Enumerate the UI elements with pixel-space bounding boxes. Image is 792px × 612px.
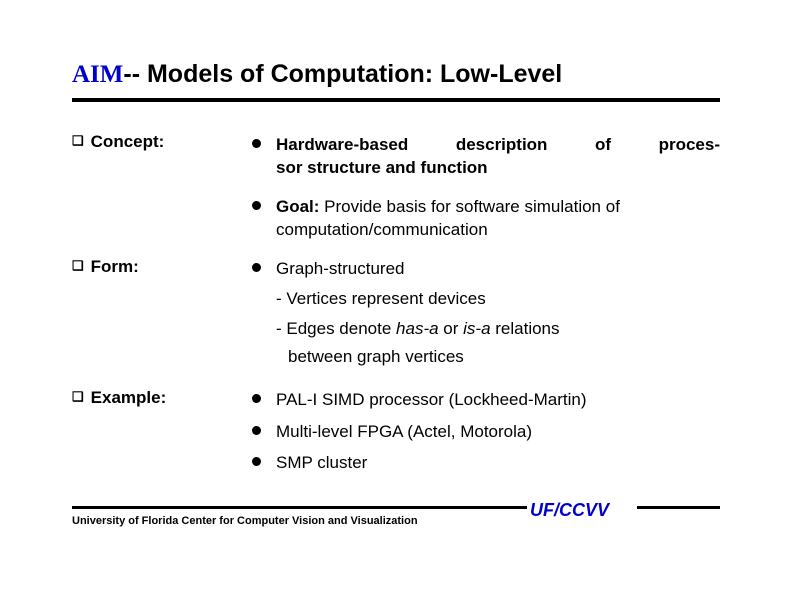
- section-label-concept-text: Concept:: [91, 132, 165, 151]
- bullet-text: PAL-I SIMD processor (Lockheed-Martin): [276, 388, 587, 411]
- bullet-text: Hardware-based description of proces- so…: [276, 133, 720, 179]
- sub-line-edges-pre: - Edges denote: [276, 319, 396, 338]
- bullet-text: Multi-level FPGA (Actel, Motorola): [276, 420, 532, 443]
- bullet-dot-icon: [252, 139, 261, 148]
- footer-affiliation: University of Florida Center for Compute…: [72, 515, 418, 527]
- bullet-line-2: sor structure and function: [276, 158, 488, 177]
- bullet-dot-icon: [252, 426, 261, 435]
- slide: AIM-- Models of Computation: Low-Level ❑…: [0, 0, 792, 612]
- sub-line-vertices: - Vertices represent devices: [276, 287, 486, 310]
- bullet-line-2: computation/communication: [276, 218, 746, 241]
- sub-line-between: between graph vertices: [288, 345, 464, 368]
- bullet-text: Graph-structured: [276, 257, 405, 280]
- sub-line-edges-italic-is-a: is-a: [463, 319, 490, 338]
- bullet-line-1: Hardware-based description of proces-: [276, 133, 720, 156]
- checkbox-square-icon: ❑: [72, 389, 84, 404]
- section-label-example-text: Example:: [91, 388, 167, 407]
- bullet-dot-icon: [252, 201, 261, 210]
- section-label-form: ❑Form:: [72, 257, 139, 277]
- sub-line-edges-italic-has-a: has-a: [396, 319, 439, 338]
- section-label-form-text: Form:: [91, 257, 139, 276]
- checkbox-square-icon: ❑: [72, 258, 84, 273]
- footer-divider-left: [72, 506, 527, 509]
- checkbox-square-icon: ❑: [72, 133, 84, 148]
- bullet-text: SMP cluster: [276, 451, 367, 474]
- footer-divider-right: [637, 506, 720, 509]
- bullet-text: Goal: Provide basis for software simulat…: [276, 195, 746, 241]
- section-label-example: ❑Example:: [72, 388, 166, 408]
- bullet-dot-icon: [252, 394, 261, 403]
- footer-brand: UF/CCVV: [530, 500, 609, 521]
- bullet-bold-lead: Goal:: [276, 197, 319, 216]
- section-label-concept: ❑Concept:: [72, 132, 164, 152]
- sub-line-edges-post: relations: [491, 319, 560, 338]
- bullet-dot-icon: [252, 263, 261, 272]
- bullet-dot-icon: [252, 457, 261, 466]
- sub-line-edges-mid: or: [439, 319, 464, 338]
- sub-line-edges: - Edges denote has-a or is-a relations: [276, 317, 560, 340]
- bullet-line-1: Provide basis for software simulation of: [319, 197, 619, 216]
